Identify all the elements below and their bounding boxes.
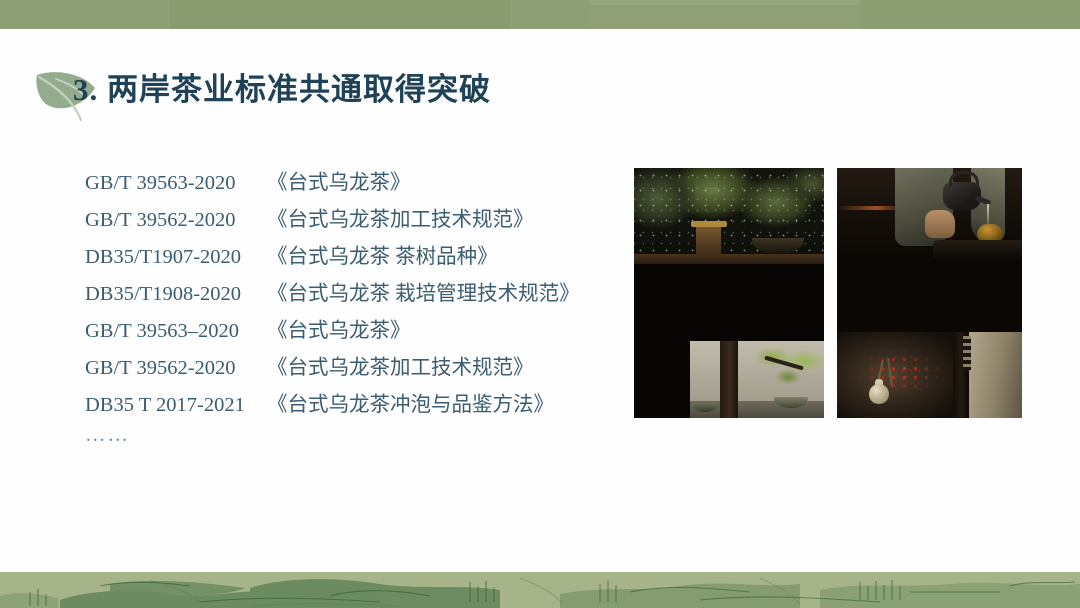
standards-list: GB/T 39563-2020 《台式乌龙茶》 GB/T 39562-2020 … — [85, 165, 605, 456]
top-bar-segment — [0, 0, 170, 29]
list-item: GB/T 39562-2020 《台式乌龙茶加工技术规范》 — [85, 202, 605, 239]
standard-code: GB/T 39563–2020 — [85, 320, 267, 343]
bonsai-garden-photo — [634, 168, 824, 418]
standard-code: DB35 T 2017-2021 — [85, 394, 267, 417]
warm-light-streak — [837, 206, 903, 210]
list-item: GB/T 39562-2020 《台式乌龙茶加工技术规范》 — [85, 350, 605, 387]
standard-name: 《台式乌龙茶加工技术规范》 — [267, 350, 534, 380]
slide: 3. 两岸茶业标准共通取得突破 GB/T 39563-2020 《台式乌龙茶》 … — [0, 0, 1080, 608]
vase-scene — [837, 332, 1022, 418]
standard-name: 《台式乌龙茶 栽培管理技术规范》 — [267, 276, 580, 306]
standard-code: GB/T 39562-2020 — [85, 357, 267, 380]
interior-wall-right — [969, 332, 1022, 418]
list-item: GB/T 39563-2020 《台式乌龙茶》 — [85, 165, 605, 202]
standard-code: DB35/T1907-2020 — [85, 246, 267, 269]
top-bar-highlight — [590, 0, 860, 5]
tea-tray — [933, 240, 1022, 258]
list-item: GB/T 39563–2020 《台式乌龙茶》 — [85, 313, 605, 350]
bonsai-tree-foliage — [752, 347, 824, 397]
top-decor-bar — [0, 0, 1080, 29]
list-ellipsis: …… — [85, 424, 605, 456]
standard-code: GB/T 39562-2020 — [85, 209, 267, 232]
list-item: DB35/T1907-2020 《台式乌龙茶 茶树品种》 — [85, 239, 605, 276]
standard-name: 《台式乌龙茶 茶树品种》 — [267, 239, 498, 269]
wall-strip — [963, 336, 971, 370]
top-bar-segment — [510, 0, 590, 29]
photo-collage — [634, 168, 1022, 418]
standard-code: DB35/T1908-2020 — [85, 283, 267, 306]
bottom-decor-band — [0, 572, 1080, 608]
list-item: DB35 T 2017-2021 《台式乌龙茶冲泡与品鉴方法》 — [85, 387, 605, 424]
pouring-stream — [987, 204, 989, 226]
list-item: DB35/T1908-2020 《台式乌龙茶 栽培管理技术规范》 — [85, 276, 605, 313]
bonsai-pot-rim — [691, 221, 727, 227]
courtyard-inset — [690, 341, 824, 418]
standard-name: 《台式乌龙茶加工技术规范》 — [267, 202, 534, 232]
red-blossoms — [855, 346, 945, 394]
kettle-handle — [949, 171, 979, 187]
hand — [925, 210, 955, 238]
ink-landscape-texture — [0, 572, 1080, 608]
standard-name: 《台式乌龙茶》 — [267, 165, 411, 195]
page-title: 3. 两岸茶业标准共通取得突破 — [73, 68, 491, 112]
courtyard-pillar — [720, 341, 738, 418]
top-bar-segment — [170, 0, 510, 29]
standard-code: GB/T 39563-2020 — [85, 172, 267, 195]
vase — [869, 384, 889, 404]
bonsai-pot — [696, 225, 721, 257]
top-bar-segment — [860, 0, 1080, 29]
tea-pouring-photo — [837, 168, 1022, 418]
standard-name: 《台式乌龙茶》 — [267, 313, 411, 343]
standard-name: 《台式乌龙茶冲泡与品鉴方法》 — [267, 387, 554, 417]
